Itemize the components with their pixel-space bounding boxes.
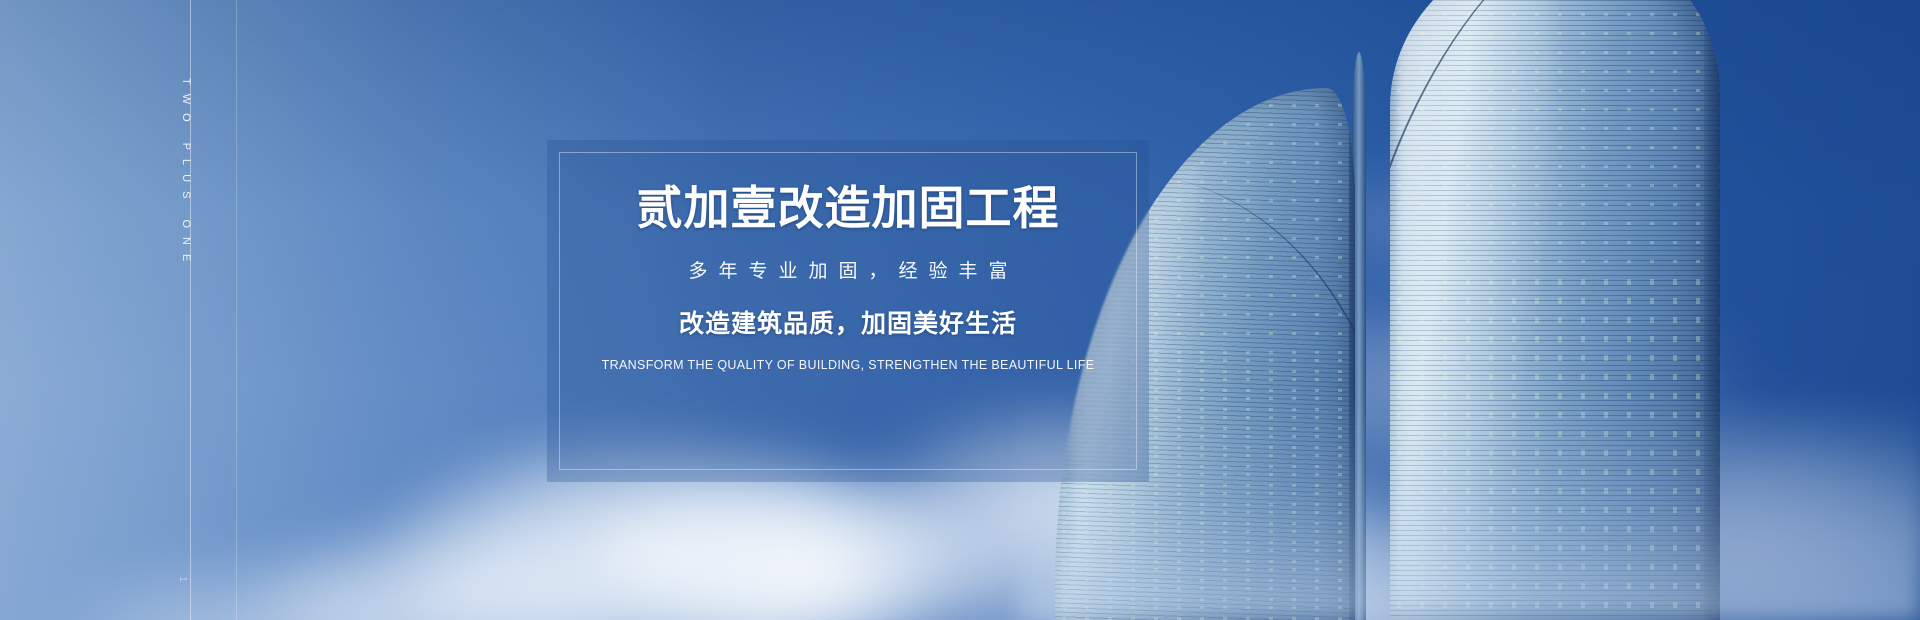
- hero-english-tagline: TRANSFORM THE QUALITY OF BUILDING, STREN…: [602, 357, 1095, 373]
- hero-headline: 贰加壹改造加固工程: [637, 184, 1060, 232]
- vertical-rule-secondary: [236, 0, 237, 620]
- hero-banner: TWO PLUS ONE 1 贰加壹改造加固工程 多年专业加固，经验丰富 改造建…: [0, 0, 1920, 620]
- side-vertical-label: TWO PLUS ONE: [180, 78, 192, 270]
- hero-tagline: 改造建筑品质，加固美好生活: [679, 309, 1017, 339]
- hero-subheadline: 多年专业加固，经验丰富: [677, 260, 1018, 283]
- hero-text-panel: 贰加壹改造加固工程 多年专业加固，经验丰富 改造建筑品质，加固美好生活 TRAN…: [547, 140, 1149, 482]
- panel-content: 贰加壹改造加固工程 多年专业加固，经验丰富 改造建筑品质，加固美好生活 TRAN…: [547, 140, 1149, 482]
- side-vertical-mark: 1: [177, 576, 188, 583]
- tower-base-haze: [1020, 390, 1920, 620]
